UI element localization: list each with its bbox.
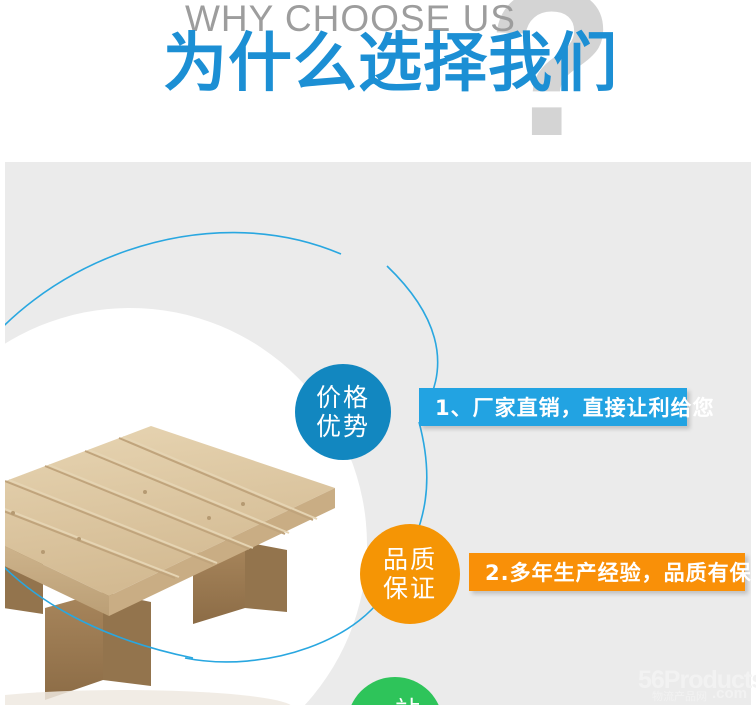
bubble-line-2: 优势: [316, 412, 370, 441]
bubble-line-2: 保证: [383, 574, 437, 603]
bubble-line-1: 价格: [316, 383, 370, 412]
watermark-domain: .com: [712, 685, 747, 702]
site-watermark: 56Products 物流产品网 .com: [638, 664, 756, 704]
bubble-line-1: 一站: [368, 696, 422, 705]
feature-bubble-price[interactable]: 价格 优势: [295, 364, 391, 460]
page-header: ? WHY CHOOSE US 为什么选择我们: [0, 0, 756, 162]
features-panel: 价格 优势 品质 保证 一站 式服务 非标 准定做 1、厂家直销，直接让利给您 …: [5, 162, 751, 705]
watermark-subtitle: 物流产品网: [652, 688, 707, 704]
feature-bubble-quality[interactable]: 品质 保证: [360, 524, 460, 624]
feature-banner-2: 2.多年生产经验，品质有保障: [469, 553, 745, 591]
bubble-line-1: 品质: [383, 545, 437, 574]
header-chinese-title: 为什么选择我们: [163, 31, 618, 98]
product-photo-disc: [5, 308, 367, 705]
feature-banner-1: 1、厂家直销，直接让利给您: [419, 388, 687, 426]
wooden-pallet-image: [5, 308, 367, 705]
